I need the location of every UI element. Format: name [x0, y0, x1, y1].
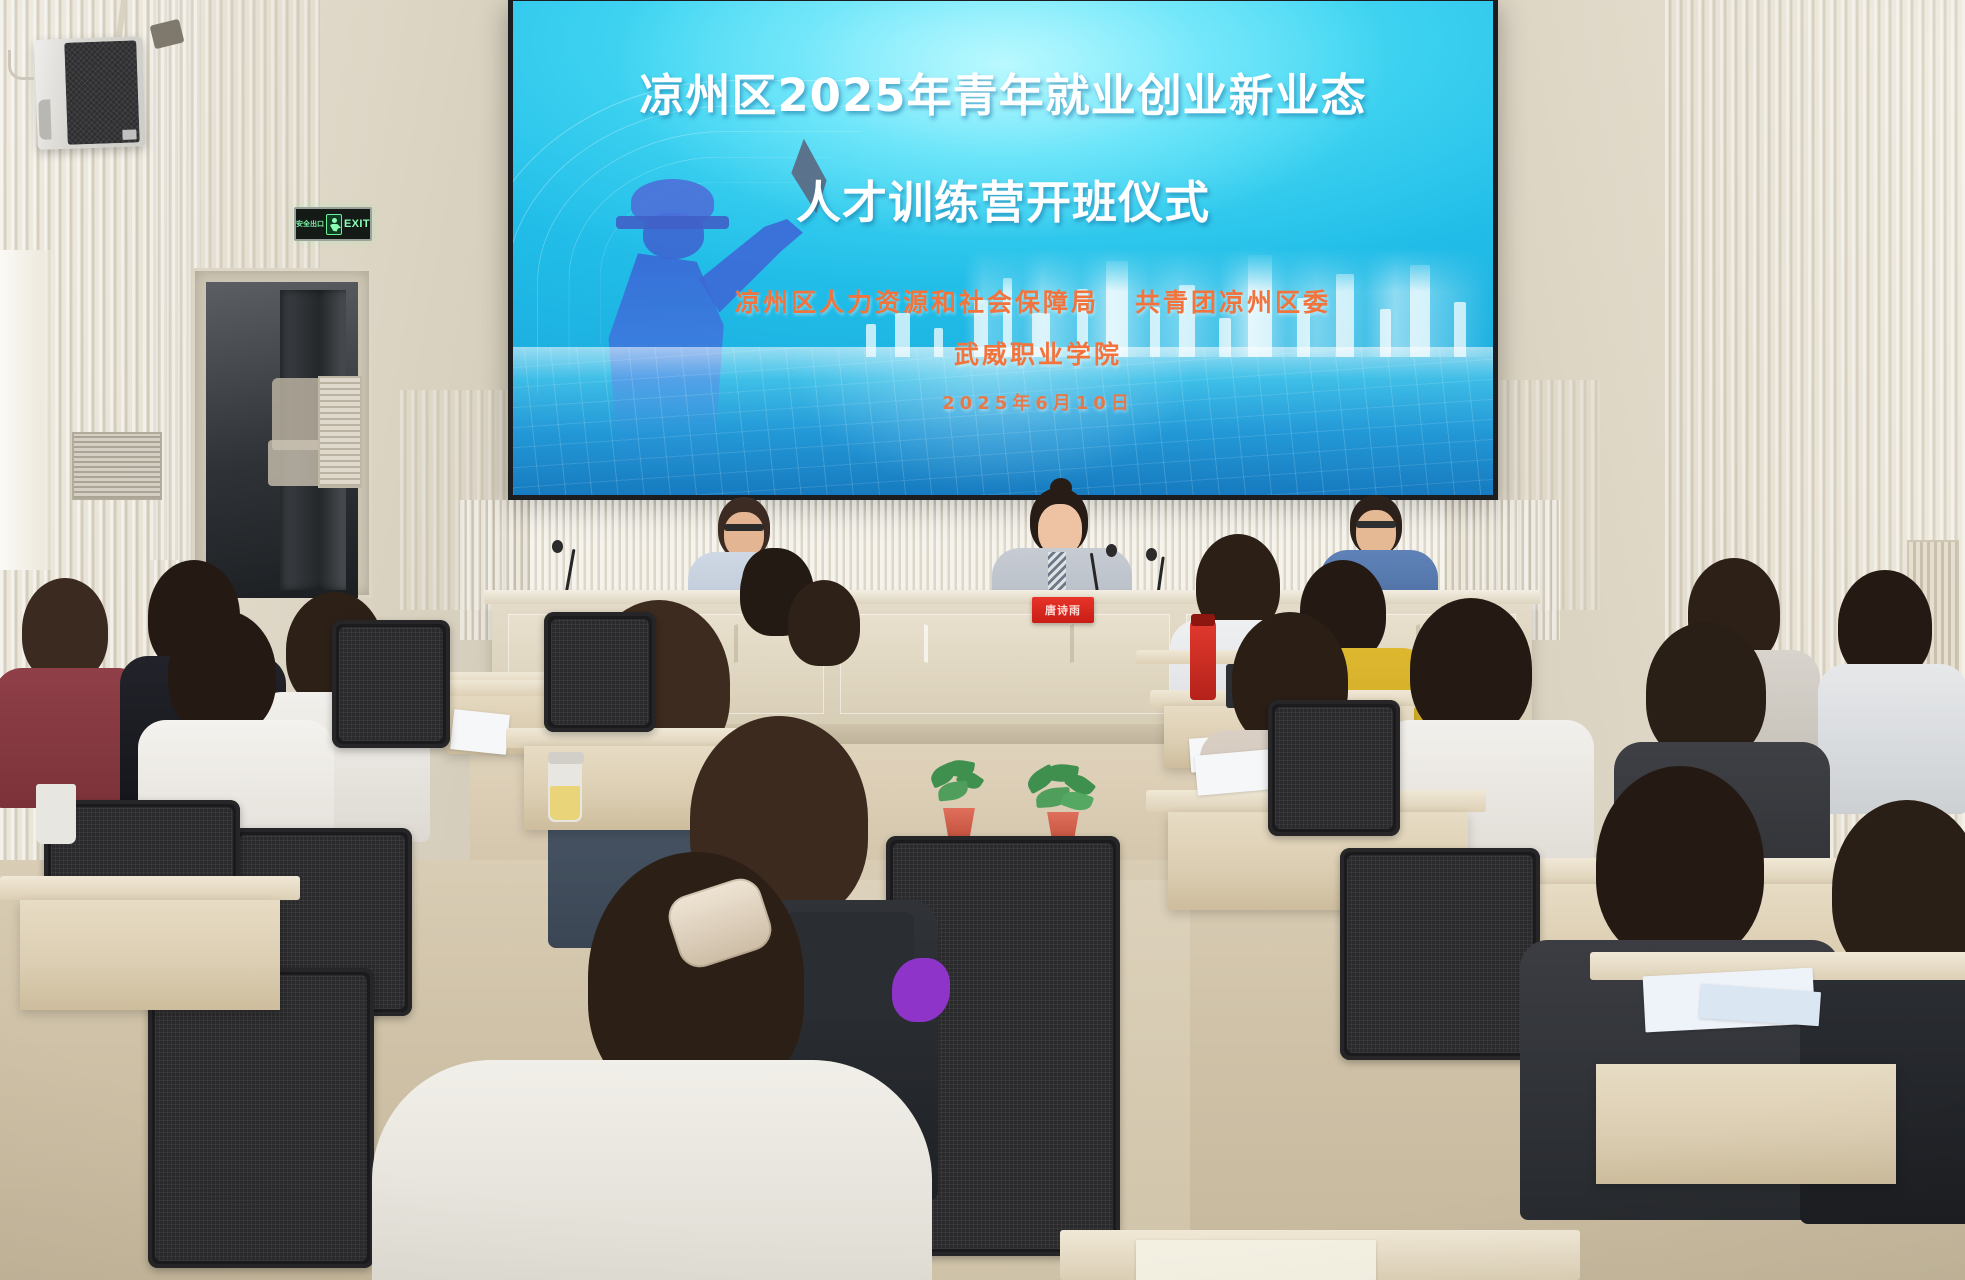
air-vent-left — [72, 432, 162, 500]
name-placard: 唐诗雨 — [1032, 597, 1094, 623]
speaker-cable — [8, 50, 34, 80]
microphone-center-head — [1106, 544, 1117, 557]
chair-mid-right[interactable] — [1340, 848, 1540, 1060]
purple-item — [892, 958, 950, 1022]
potted-plant-right — [1022, 766, 1100, 842]
exit-sign-label-en: EXIT — [344, 218, 370, 230]
chair-far-right[interactable] — [1268, 700, 1400, 836]
chair-front-left[interactable] — [148, 968, 374, 1268]
cup-front-left — [36, 784, 76, 844]
led-screen-bezel: 凉州区2025年青年就业创业新业态 人才训练营开班仪式 凉州区人力资源和社会保障… — [508, 0, 1498, 500]
document-far-left — [450, 709, 510, 755]
screen-organizer-3: 武威职业学院 — [954, 340, 1122, 369]
speaker-brand-logo — [122, 129, 136, 139]
name-placard-label: 唐诗雨 — [1045, 602, 1081, 618]
screen-organizer-row-1: 凉州区人力资源和社会保障局 共青团凉州区委 — [513, 283, 1493, 319]
exit-sign-label-cn: 安全出口 — [296, 221, 324, 228]
drink-cup-lid — [548, 752, 584, 764]
screen-organizer-2: 共青团凉州区委 — [1135, 283, 1331, 319]
air-vent-left-2 — [318, 376, 362, 488]
document-front-center — [1136, 1240, 1376, 1280]
loudspeaker — [34, 36, 146, 150]
thermos-bottle — [1190, 620, 1216, 700]
screen-organizer-1: 凉州区人力资源和社会保障局 — [735, 283, 1099, 319]
exit-sign: 安全出口 EXIT — [294, 207, 372, 241]
thermos-bottle-cap — [1191, 614, 1215, 626]
drink-cup-liquid — [550, 786, 580, 820]
screen-text-block: 凉州区2025年青年就业创业新业态 人才训练营开班仪式 凉州区人力资源和社会保障… — [513, 1, 1493, 415]
conference-room-photo: 安全出口 EXIT — [0, 0, 1965, 1280]
screen-title-line2: 人才训练营开班仪式 — [513, 166, 1493, 231]
microphone-right-head — [1146, 548, 1157, 561]
led-screen-display: 凉州区2025年青年就业创业新业态 人才训练营开班仪式 凉州区人力资源和社会保障… — [513, 1, 1493, 495]
screen-organizer-row-2: 武威职业学院 — [513, 335, 1493, 371]
desk-front-left — [20, 900, 280, 1010]
running-person-icon — [326, 214, 342, 235]
desk-front-right — [1596, 1064, 1896, 1184]
speaker-side-handle — [38, 99, 51, 139]
chair-far-left-1[interactable] — [332, 620, 450, 748]
microphone-left-head — [552, 540, 563, 553]
desk-top-front-left — [0, 876, 300, 900]
potted-plant-left — [928, 760, 990, 838]
screen-title-line1: 凉州区2025年青年就业创业新业态 — [513, 59, 1493, 124]
chair-far-left-2[interactable] — [544, 612, 656, 732]
screen-date: 2025年6月10日 — [513, 389, 1493, 415]
window-light — [0, 250, 58, 570]
